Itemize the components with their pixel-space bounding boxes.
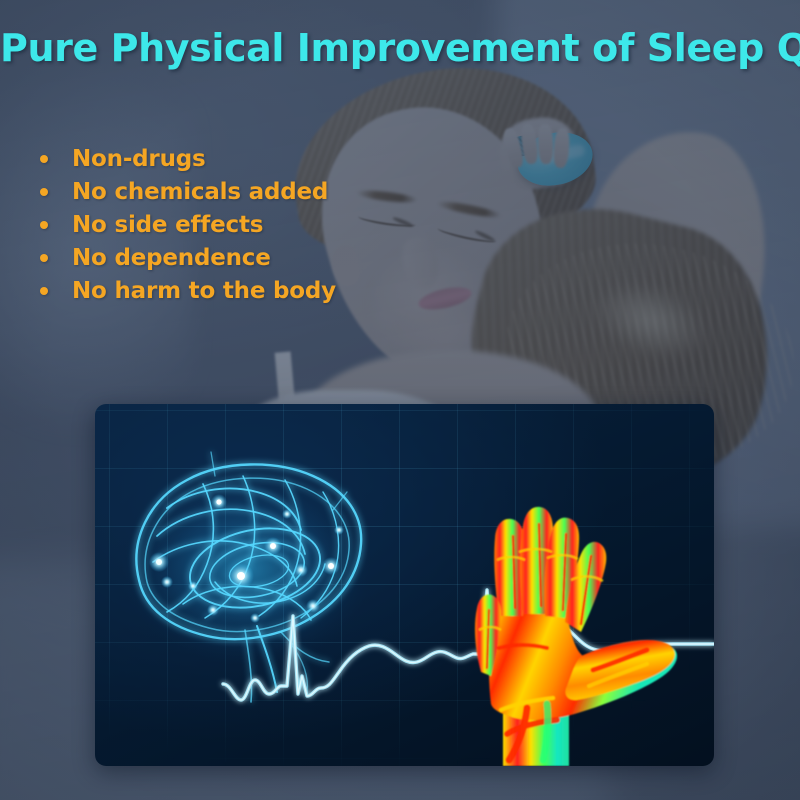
glowing-brain-icon <box>122 452 372 702</box>
poster-canvas: Pure Physical Improvement of Sleep Quali… <box>0 0 800 800</box>
list-item: No side effects <box>40 208 336 241</box>
tech-illustration-panel <box>95 404 714 766</box>
list-item: Non-drugs <box>40 142 336 175</box>
benefit-label: No dependence <box>72 245 271 271</box>
list-item: No harm to the body <box>40 274 336 307</box>
benefits-list: Non-drugs No chemicals added No side eff… <box>40 142 336 307</box>
bullet-dot-icon <box>40 188 48 196</box>
benefit-label: No harm to the body <box>72 278 336 304</box>
bullet-dot-icon <box>40 254 48 262</box>
bullet-dot-icon <box>40 287 48 295</box>
benefit-label: No chemicals added <box>72 179 328 205</box>
panel-graphics <box>95 404 714 766</box>
bullet-dot-icon <box>40 155 48 163</box>
list-item: No dependence <box>40 241 336 274</box>
page-title: Pure Physical Improvement of Sleep Quali… <box>0 26 800 70</box>
benefit-label: No side effects <box>72 212 263 238</box>
benefit-label: Non-drugs <box>72 146 206 172</box>
list-item: No chemicals added <box>40 175 336 208</box>
bullet-dot-icon <box>40 221 48 229</box>
